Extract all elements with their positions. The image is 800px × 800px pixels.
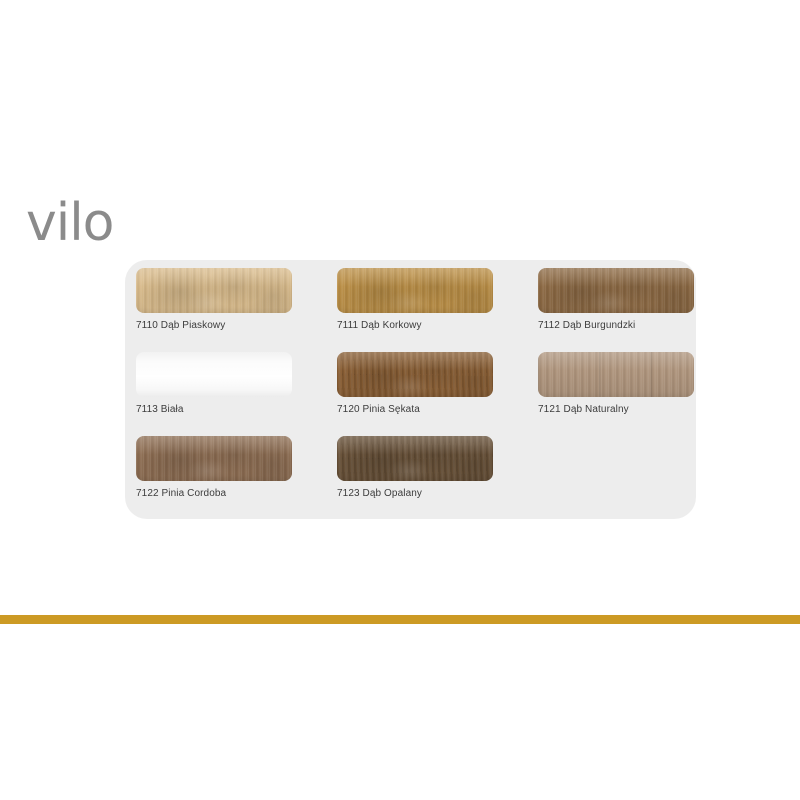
swatch-item-7112[interactable]: 7112 Dąb Burgundzki <box>538 268 694 352</box>
swatch-item-7121[interactable]: 7121 Dąb Naturalny <box>538 352 694 436</box>
swatch-color-7112[interactable] <box>538 268 694 313</box>
swatch-color-7123[interactable] <box>337 436 493 481</box>
swatch-label-7120: 7120 Pinia Sękata <box>337 404 493 415</box>
surface-sheen <box>337 268 493 313</box>
swatch-label-7112: 7112 Dąb Burgundzki <box>538 320 694 331</box>
swatch-color-7111[interactable] <box>337 268 493 313</box>
surface-sheen <box>538 268 694 313</box>
swatch-panel: 7110 Dąb Piaskowy 7111 Dąb Korkowy 7112 … <box>125 260 696 519</box>
vilo-wordmark-icon: vilo <box>26 196 156 254</box>
surface-sheen <box>337 352 493 397</box>
surface-sheen <box>136 436 292 481</box>
swatch-color-7120[interactable] <box>337 352 493 397</box>
swatch-label-7110: 7110 Dąb Piaskowy <box>136 320 292 331</box>
swatch-color-7110[interactable] <box>136 268 292 313</box>
surface-sheen <box>538 352 694 397</box>
swatch-item-7111[interactable]: 7111 Dąb Korkowy <box>337 268 493 352</box>
swatch-row: 7122 Pinia Cordoba 7123 Dąb Opalany <box>136 436 685 516</box>
swatch-label-7121: 7121 Dąb Naturalny <box>538 404 694 415</box>
swatch-color-7113[interactable] <box>136 352 292 397</box>
swatch-color-7121[interactable] <box>538 352 694 397</box>
swatch-grid: 7110 Dąb Piaskowy 7111 Dąb Korkowy 7112 … <box>136 268 685 516</box>
swatch-label-7122: 7122 Pinia Cordoba <box>136 488 292 499</box>
swatch-item-7110[interactable]: 7110 Dąb Piaskowy <box>136 268 292 352</box>
swatch-row: 7110 Dąb Piaskowy 7111 Dąb Korkowy 7112 … <box>136 268 685 352</box>
swatch-label-7113: 7113 Biała <box>136 404 292 415</box>
swatch-item-7123[interactable]: 7123 Dąb Opalany <box>337 436 493 516</box>
swatch-label-7123: 7123 Dąb Opalany <box>337 488 493 499</box>
swatch-label-7111: 7111 Dąb Korkowy <box>337 320 493 331</box>
swatch-item-7120[interactable]: 7120 Pinia Sękata <box>337 352 493 436</box>
swatch-row: 7113 Biała 7120 Pinia Sękata 7121 Dąb Na… <box>136 352 685 436</box>
accent-bar <box>0 615 800 624</box>
swatch-item-7113[interactable]: 7113 Biała <box>136 352 292 436</box>
surface-sheen <box>337 436 493 481</box>
brand-logo: vilo <box>26 196 156 254</box>
surface-sheen <box>136 268 292 313</box>
swatch-color-7122[interactable] <box>136 436 292 481</box>
brand-name: vilo <box>26 196 113 253</box>
swatch-item-7122[interactable]: 7122 Pinia Cordoba <box>136 436 292 516</box>
